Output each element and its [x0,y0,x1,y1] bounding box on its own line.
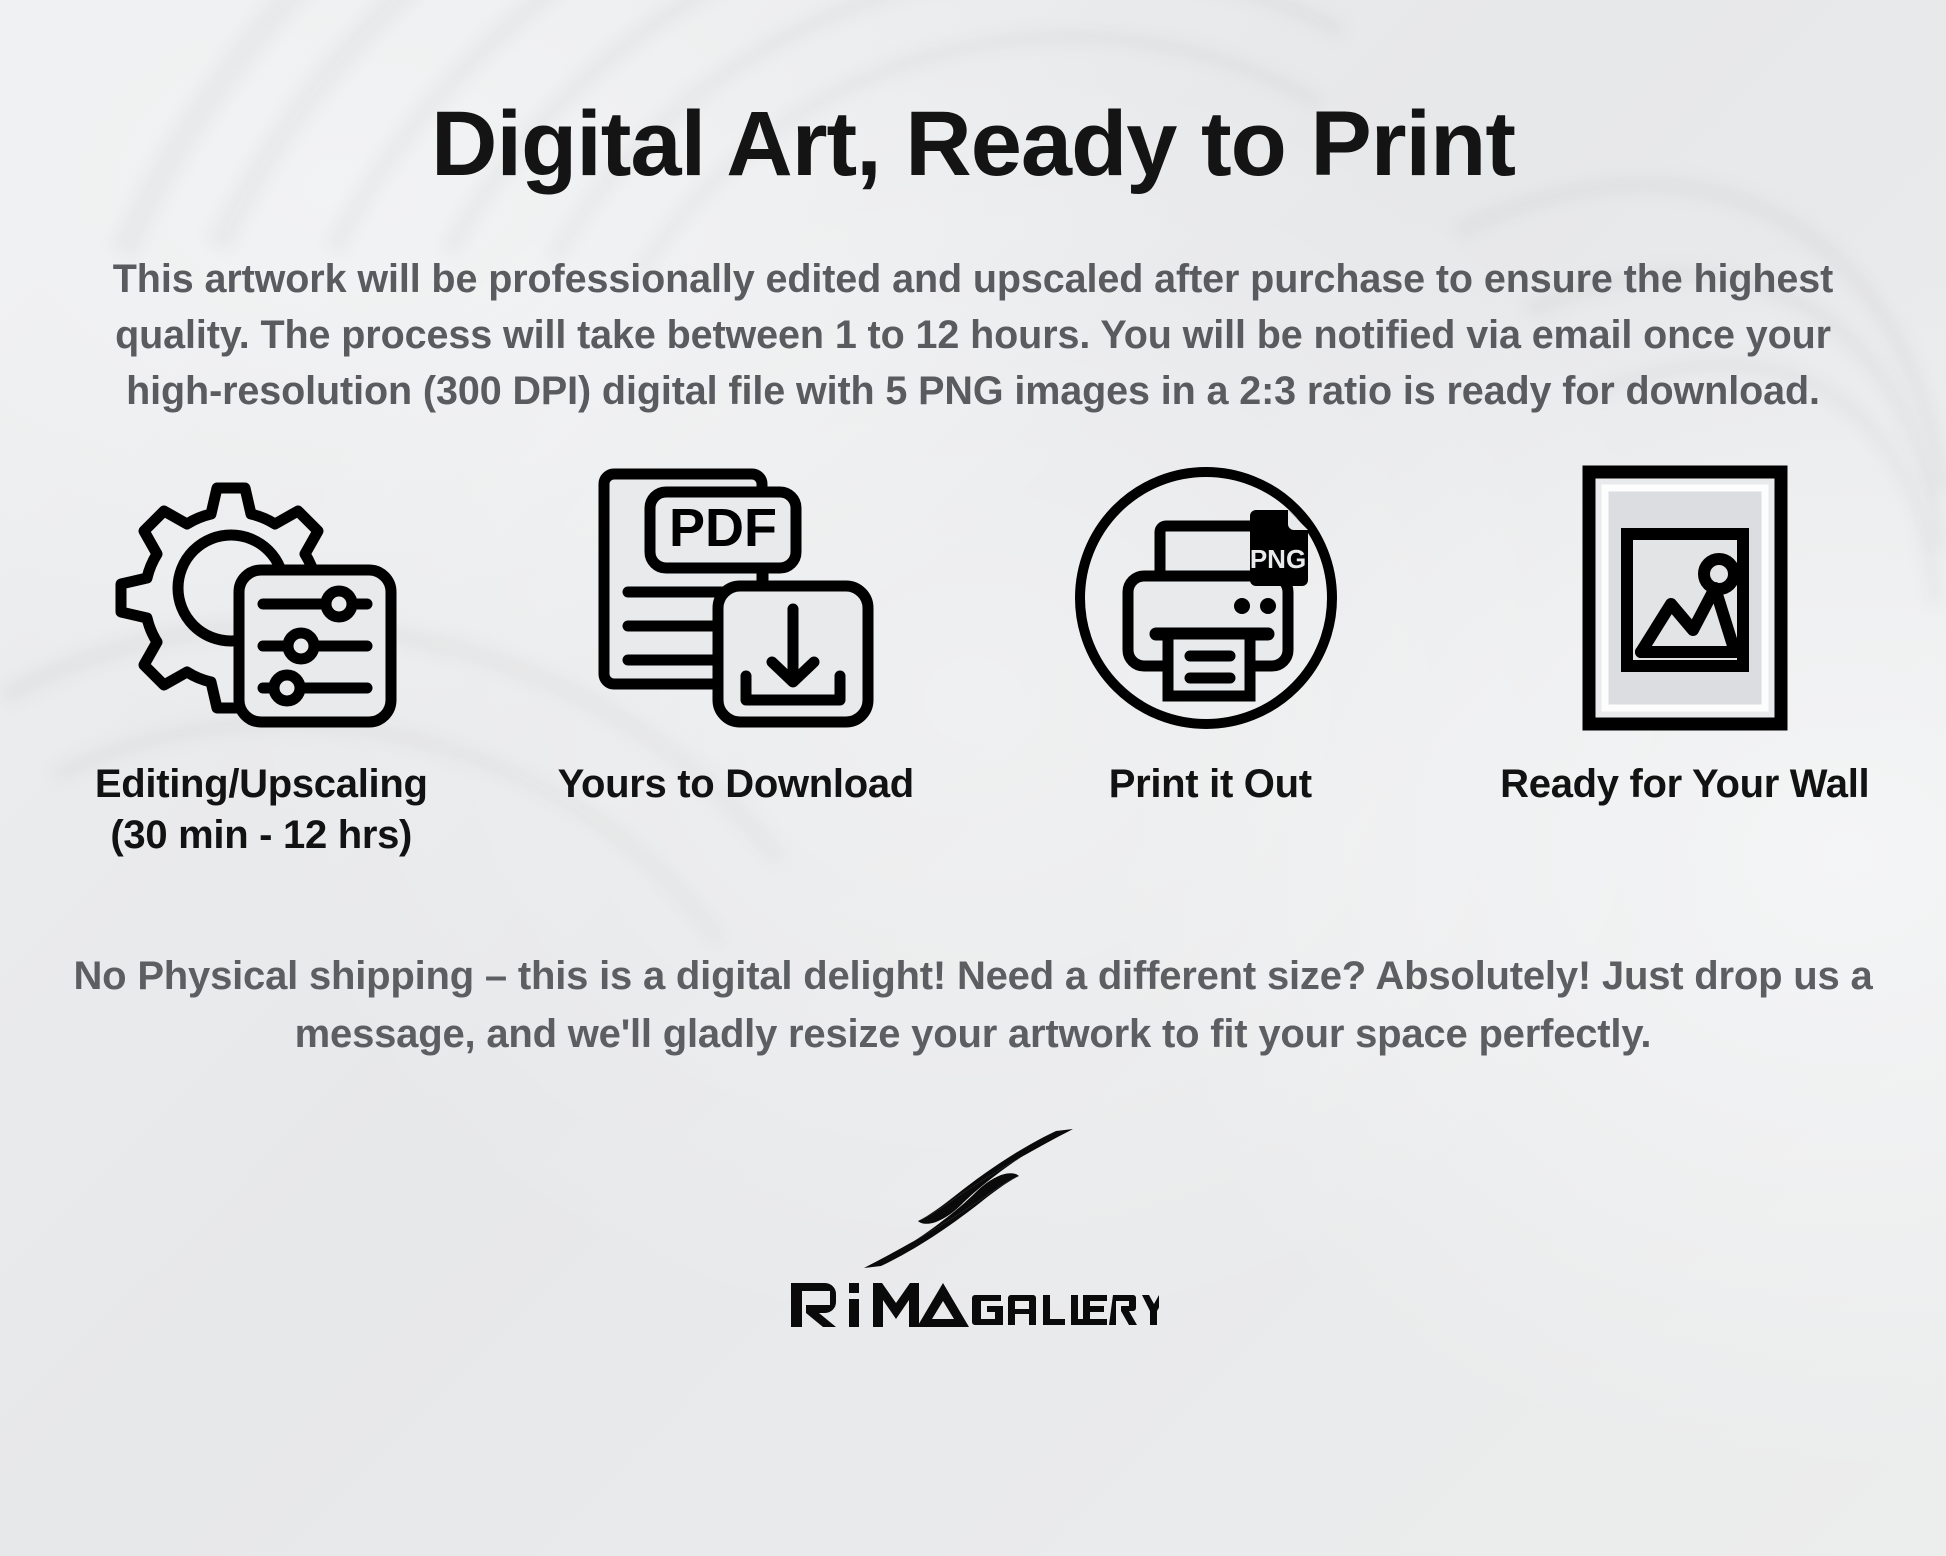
feature-item-ready-for-your-wall: Ready for Your Wall [1448,463,1923,861]
pdf-download-icon: PDF [594,463,878,733]
promo-card: Digital Art, Ready to Print This artwork… [0,0,1946,1556]
feature-item-editing-upscaling: Editing/Upscaling (30 min - 12 hrs) [24,463,499,861]
brand-logo [0,1123,1946,1329]
printer-circle-icon: PNG [1072,463,1348,733]
feature-item-yours-to-download: PDF Yours to Download [499,463,974,861]
feature-label: Yours to Download [558,759,914,810]
intro-paragraph: This artwork will be professionally edit… [68,251,1878,419]
feature-item-print-it-out: PNG Print it Out [973,463,1448,861]
png-badge-text: PNG [1250,544,1306,574]
outro-paragraph: No Physical shipping – this is a digital… [53,947,1893,1063]
feature-label: Ready for Your Wall [1500,759,1869,810]
pdf-badge-text: PDF [669,498,777,558]
rima-swoosh-logo-mark [858,1123,1088,1273]
page-title: Digital Art, Ready to Print [0,0,1946,193]
brand-wordmark [787,1277,1159,1329]
framed-picture-icon [1575,463,1795,733]
feature-row: Editing/Upscaling (30 min - 12 hrs) PDF [0,463,1946,861]
feature-label: Editing/Upscaling (30 min - 12 hrs) [95,759,428,861]
feature-label: Print it Out [1109,759,1312,810]
gear-sliders-icon [111,463,411,733]
